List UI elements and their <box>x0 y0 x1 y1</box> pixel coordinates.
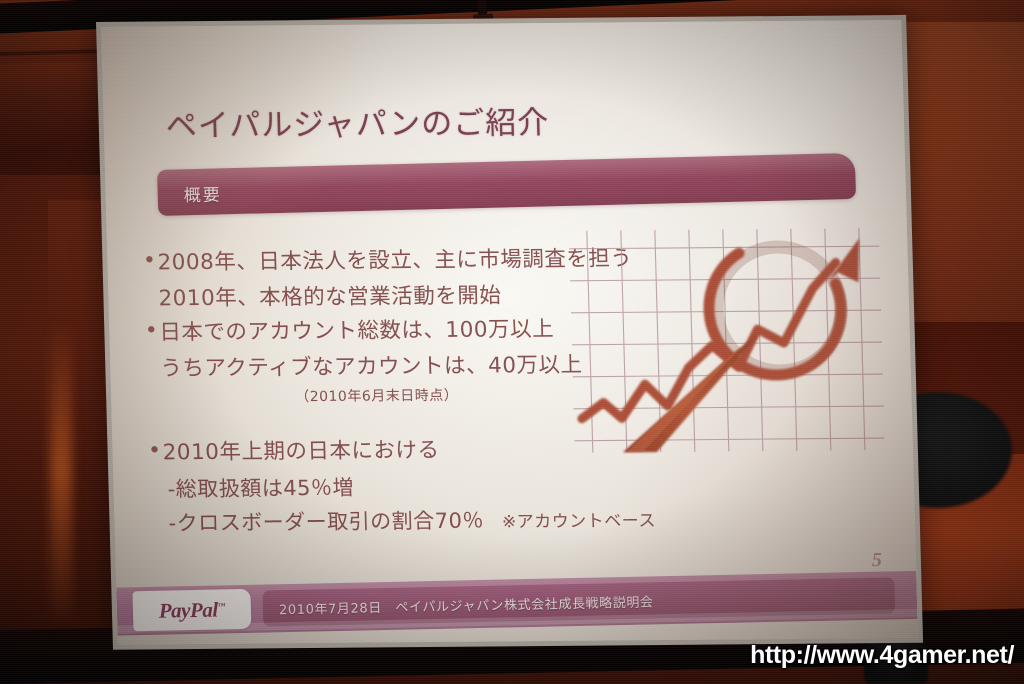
list-item: • 2008年、日本法人を設立、主に市場調査を担う <box>141 242 612 280</box>
footer-event-text: 2010年7月28日 ペイパルジャパン株式会社成長戦略説明会 <box>279 591 654 618</box>
bullet-1-line-2: 2010年、本格的な営業活動を開始 <box>142 278 613 316</box>
magnifying-glass-growth-chart-icon <box>558 216 895 467</box>
bullet-dot-icon: • <box>146 436 163 466</box>
slide-footer: PayPal™ 2010年7月28日 ペイパルジャパン株式会社成長戦略説明会 <box>116 571 917 636</box>
section-banner-label: 概要 <box>183 180 222 206</box>
paypal-wordmark: PayPal <box>158 597 217 622</box>
page-title: ペイパルジャパンのご紹介 <box>165 97 550 145</box>
wall-left-light-glow <box>50 320 72 620</box>
bullet-dot-icon: • <box>143 316 160 346</box>
trademark-icon: ™ <box>217 601 225 610</box>
projection-screen: ペイパルジャパンのご紹介 概要 • 2008年、日本法人を設立、主に市場調査を担… <box>96 15 924 670</box>
bullet-3-sub-2-row: -クロスボーダー取引の割合70％※アカウントベース <box>148 502 619 542</box>
slide-page-number: 5 <box>872 549 883 572</box>
bullet-3-sub-2: -クロスボーダー取引の割合70％ <box>168 509 484 536</box>
list-item: • 日本でのアカウント総数は、100万以上 <box>143 312 614 350</box>
photo-frame: ペイパルジャパンのご紹介 概要 • 2008年、日本法人を設立、主に市場調査を担… <box>0 0 1024 684</box>
list-spacer <box>146 406 617 436</box>
bullet-2-line-2: うちアクティブなアカウントは、40万以上 <box>144 348 615 386</box>
paypal-logo: PayPal™ <box>158 597 225 623</box>
bullet-3-sub-1: -総取扱額は45％増 <box>147 468 618 506</box>
bullet-3-line-1: 2010年上期の日本における <box>162 434 440 470</box>
banner-highlight <box>157 153 855 191</box>
bullet-3-sub-2-note: ※アカウントベース <box>484 511 656 532</box>
site-watermark: http://www.4gamer.net/ <box>750 641 1014 670</box>
screen-surface: ペイパルジャパンのご紹介 概要 • 2008年、日本法人を設立、主に市場調査を担… <box>96 15 923 650</box>
section-banner: 概要 <box>157 153 856 216</box>
bullet-list: • 2008年、日本法人を設立、主に市場調査を担う 2010年、本格的な営業活動… <box>141 242 619 542</box>
list-item: • 2010年上期の日本における <box>146 432 617 470</box>
bullet-dot-icon: • <box>141 246 158 276</box>
bullet-2-line-1: 日本でのアカウント総数は、100万以上 <box>159 313 555 350</box>
slide-canvas: ペイパルジャパンのご紹介 概要 • 2008年、日本法人を設立、主に市場調査を担… <box>101 20 918 645</box>
